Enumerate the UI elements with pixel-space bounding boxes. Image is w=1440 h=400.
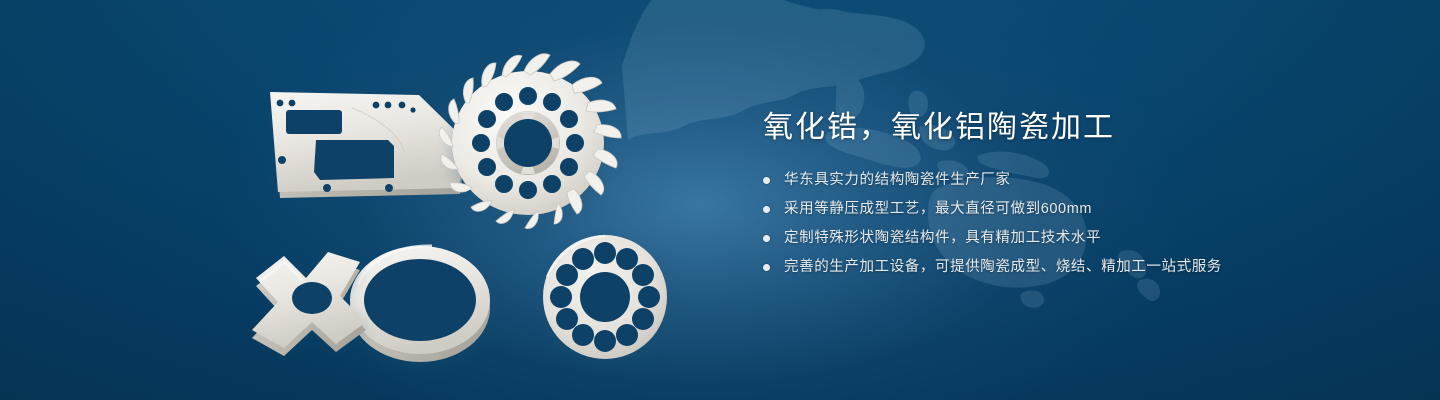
bullet-dot-icon (763, 177, 770, 184)
banner-text-block: 氧化锆，氧化铝陶瓷加工 华东具实力的结构陶瓷件生产厂家 采用等静压成型工艺，最大… (763, 108, 1323, 277)
ceramic-products-image (0, 0, 760, 400)
feature-text-2: 采用等静压成型工艺，最大直径可做到600mm (784, 199, 1092, 219)
banner-headline: 氧化锆，氧化铝陶瓷加工 (763, 108, 1323, 148)
feature-text-3: 定制特殊形状陶瓷结构件，具有精加工技术水平 (784, 228, 1101, 248)
bullet-dot-icon (763, 264, 770, 271)
ceramic-rings-part (350, 246, 494, 372)
bullet-dot-icon (763, 235, 770, 242)
feature-item-2: 采用等静压成型工艺，最大直径可做到600mm (763, 199, 1323, 219)
hero-banner: 氧化锆，氧化铝陶瓷加工 华东具实力的结构陶瓷件生产厂家 采用等静压成型工艺，最大… (0, 0, 1440, 400)
ceramic-impeller-part (439, 54, 621, 229)
feature-text-4: 完善的生产加工设备，可提供陶瓷成型、烧结、精加工一站式服务 (784, 257, 1222, 277)
feature-list: 华东具实力的结构陶瓷件生产厂家 采用等静压成型工艺，最大直径可做到600mm 定… (763, 170, 1323, 277)
ceramic-perforated-disc-part (543, 235, 669, 367)
feature-item-1: 华东具实力的结构陶瓷件生产厂家 (763, 170, 1323, 190)
feature-item-4: 完善的生产加工设备，可提供陶瓷成型、烧结、精加工一站式服务 (763, 257, 1323, 277)
feature-item-3: 定制特殊形状陶瓷结构件，具有精加工技术水平 (763, 228, 1323, 248)
ceramic-plate-part (270, 92, 466, 198)
bullet-dot-icon (763, 206, 770, 213)
feature-text-1: 华东具实力的结构陶瓷件生产厂家 (784, 170, 1011, 190)
